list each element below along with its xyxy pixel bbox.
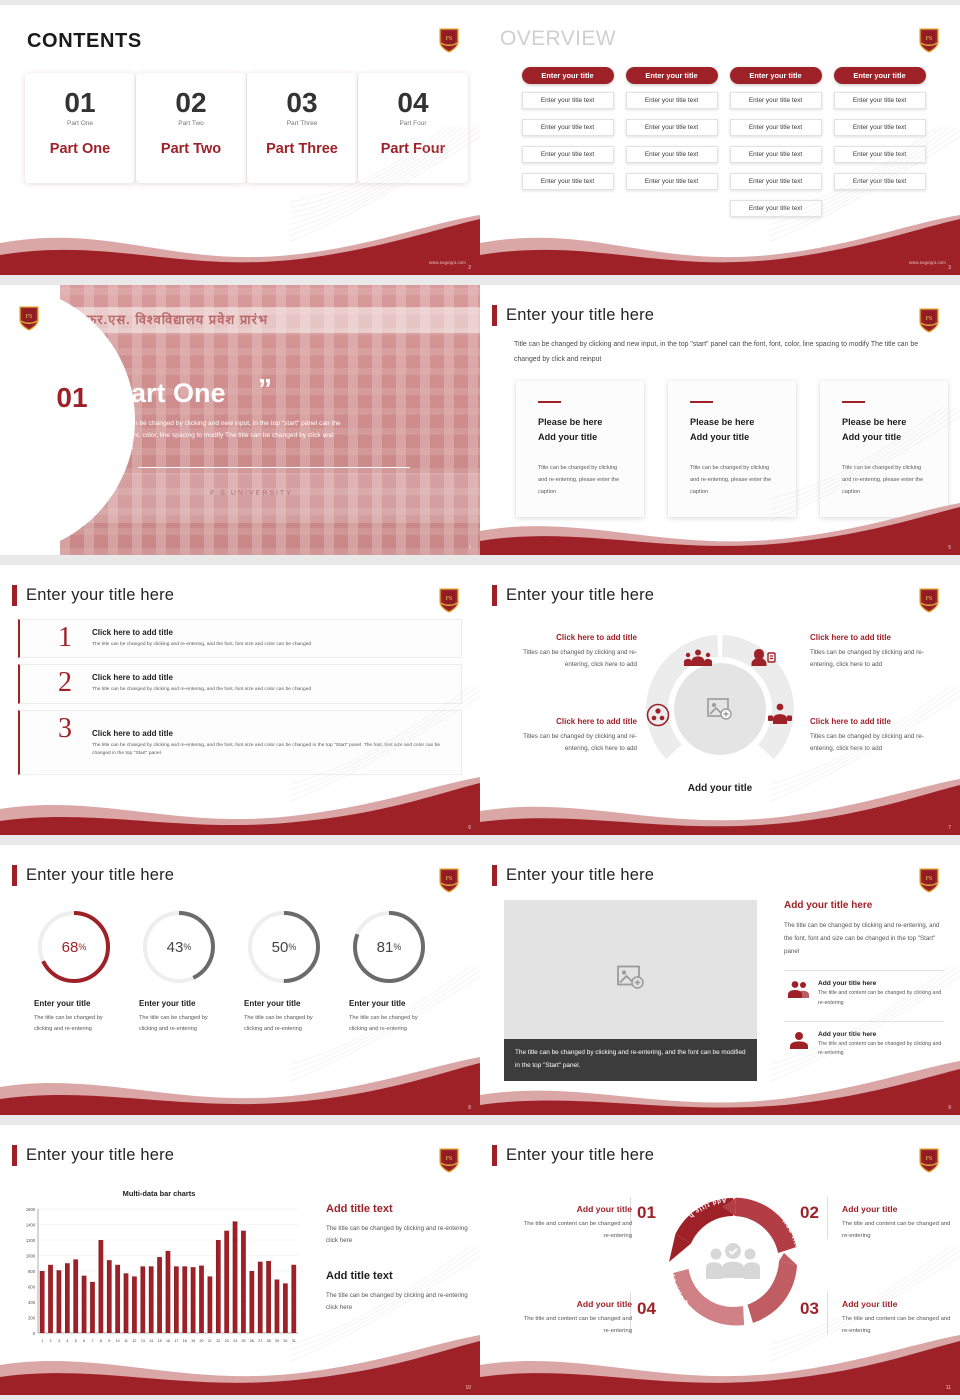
label-heading: Add your title [842, 1204, 952, 1214]
radial-label-bottom-left: Click here to add title Titles can be ch… [502, 717, 637, 756]
card-heading-line1: Please be here [538, 415, 622, 430]
overview-column: Enter your title Enter your title text E… [832, 67, 927, 227]
image-placeholder-icon[interactable] [707, 698, 733, 720]
side-heading-1: Add title text [326, 1203, 471, 1215]
overview-column: Enter your title Enter your title text E… [728, 67, 823, 227]
university-crest-icon: FS [918, 1147, 940, 1173]
page-title: Enter your title here [506, 1146, 654, 1165]
cycle-label-bottom-right: Add your title The title and content can… [842, 1299, 952, 1337]
slide-donut-stats: Enter your title here FS 68% Enter your … [0, 845, 480, 1115]
footer-wave-decoration [0, 1055, 480, 1115]
label-heading: Click here to add title [502, 633, 637, 642]
divider-rule [138, 467, 410, 468]
slide-number: 11 [946, 1385, 951, 1391]
svg-text:FS: FS [446, 596, 453, 602]
mini-heading: Add your title here [818, 980, 944, 987]
card-number: 03 [247, 89, 357, 117]
person-network-icon [768, 703, 792, 730]
slide-overview: OVERVIEW FS Enter your title Enter your … [480, 5, 960, 275]
svg-text:600: 600 [28, 1285, 36, 1290]
svg-text:24: 24 [233, 1339, 237, 1343]
row-body: The title can be changed by clicking and… [92, 686, 451, 694]
page-title: Enter your title here [506, 866, 654, 885]
page-title: Enter your title here [506, 586, 654, 605]
overview-cell[interactable]: Enter your title text [730, 92, 822, 109]
footer-wave-decoration [0, 775, 480, 835]
page-title-bar: Enter your title here [12, 1145, 174, 1166]
feature-card[interactable]: Please be here Add your title Title can … [668, 381, 796, 517]
contents-card[interactable]: 03 Part Three Part Three [247, 73, 357, 183]
label-body: The title and content can be changed and… [522, 1219, 632, 1242]
svg-text:400: 400 [28, 1300, 36, 1305]
svg-text:20: 20 [200, 1339, 204, 1343]
card-number: 04 [358, 89, 468, 117]
overview-cell[interactable]: Enter your title text [522, 173, 614, 190]
slide-bar-chart: Enter your title here FS Multi-data bar … [0, 1125, 480, 1395]
page-title: Enter your title here [506, 306, 654, 325]
slide-cycle-diagram: Enter your title here FS [480, 1125, 960, 1395]
overview-pill[interactable]: Enter your title [730, 67, 822, 84]
row-body: The title can be changed by clicking and… [92, 742, 451, 759]
svg-text:23: 23 [225, 1339, 229, 1343]
university-crest-icon: FS [438, 27, 460, 53]
group-people-icon [683, 649, 713, 672]
footer-wave-decoration [0, 215, 480, 275]
slide-number: 5 [948, 545, 951, 551]
svg-text:FS: FS [446, 36, 453, 42]
svg-text:800: 800 [28, 1269, 36, 1274]
label-heading: Click here to add title [502, 717, 637, 726]
svg-text:1600: 1600 [26, 1207, 36, 1212]
site-url: www.sogoppt.com [429, 260, 466, 265]
cycle-label-bottom-left: Add your title The title and content can… [522, 1299, 632, 1337]
label-body: Titles can be changed by clicking and re… [502, 647, 637, 672]
numbered-row-list: 1 Click here to add title The title can … [18, 619, 462, 781]
overview-cell[interactable]: Enter your title text [626, 92, 718, 109]
slide-number: 7 [948, 825, 951, 831]
row-body: The title can be changed by clicking and… [92, 641, 451, 649]
divider [827, 1292, 828, 1334]
donut-percent: 50% [244, 907, 324, 987]
side-panel: Add your title here The title can be cha… [784, 900, 944, 1059]
page-title-bar: Enter your title here [492, 585, 654, 606]
list-item[interactable]: 1 Click here to add title The title can … [18, 619, 462, 658]
university-crest-icon: FS [918, 27, 940, 53]
photo-sign-text: एफर.एस. विश्वविद्यालय प्रवेश प्रारंभ [78, 310, 462, 328]
svg-text:FS: FS [926, 876, 933, 882]
slide-number: 8 [468, 1105, 471, 1111]
donut-percent: 68% [34, 907, 114, 987]
card-label: Part Three [247, 141, 357, 157]
list-item[interactable]: 3 Click here to add title The title can … [18, 710, 462, 776]
title-accent-bar [492, 1145, 497, 1166]
svg-text:15: 15 [158, 1339, 162, 1343]
overview-cell[interactable]: Enter your title text [626, 119, 718, 136]
page-title: Enter your title here [26, 866, 174, 885]
card-label: Part Four [358, 141, 468, 157]
card-heading-line1: Please be here [690, 415, 774, 430]
donut-heading: Enter your title [349, 999, 446, 1008]
overview-cell[interactable]: Enter your title text [522, 146, 614, 163]
label-heading: Add your title [522, 1299, 632, 1309]
donut-stat[interactable]: 68% Enter your title The title can be ch… [26, 907, 131, 1034]
side-body-1: The title can be changed by clicking and… [326, 1223, 471, 1248]
contents-card[interactable]: 04 Part Four Part Four [358, 73, 468, 183]
overview-grid: Enter your title Enter your title text E… [520, 67, 927, 227]
bar-chart: Multi-data bar charts 020040060080010001… [14, 1189, 304, 1354]
slide-number: 3 [948, 265, 951, 271]
feature-card[interactable]: Please be here Add your title Title can … [820, 381, 948, 517]
svg-text:22: 22 [216, 1339, 220, 1343]
radial-diagram: Add your title Click here to add title T… [480, 617, 960, 807]
section-body: Title can be changed by clicking and new… [113, 418, 343, 455]
slide-number: 9 [948, 1105, 951, 1111]
section-number-badge: 01 [43, 373, 101, 423]
slide-radial-diagram: Enter your title here FS [480, 565, 960, 835]
chart-side-text: Add title text The title can be changed … [326, 1203, 471, 1315]
photo-ground-band [60, 473, 480, 523]
mini-feature[interactable]: Add your title here The title and conten… [784, 1022, 944, 1060]
svg-text:FS: FS [446, 876, 453, 882]
overview-cell[interactable]: Enter your title text [834, 173, 926, 190]
row-number: 1 [58, 624, 72, 652]
overview-cell[interactable]: Enter your title text [730, 173, 822, 190]
card-number: 01 [25, 89, 135, 117]
svg-text:16: 16 [166, 1339, 170, 1343]
title-accent-bar [492, 305, 497, 326]
donut-percent: 43% [139, 907, 219, 987]
side-heading-2: Add title text [326, 1270, 471, 1282]
section-title: Part One [113, 378, 226, 409]
card-heading-line2: Add your title [842, 430, 926, 445]
mini-body: The title and content can be changed by … [818, 989, 944, 1009]
label-heading: Click here to add title [810, 633, 945, 642]
title-accent-bar [12, 585, 17, 606]
svg-text:200: 200 [28, 1316, 36, 1321]
slide-section-divider: एफर.एस. विश्वविद्यालय प्रवेश प्रारंभ F S… [0, 285, 480, 555]
label-body: Titles can be changed by clicking and re… [810, 731, 945, 756]
overview-column: Enter your title Enter your title text E… [520, 67, 615, 227]
card-subtitle: Part One [25, 120, 135, 127]
card-accent-dash [538, 401, 561, 403]
label-heading: Click here to add title [810, 717, 945, 726]
label-body: Titles can be changed by clicking and re… [502, 731, 637, 756]
card-number: 02 [136, 89, 246, 117]
svg-text:5: 5 [75, 1339, 77, 1343]
row-number: 3 [58, 715, 72, 743]
university-crest-icon: FS [918, 587, 940, 613]
donut-stat[interactable]: 81% Enter your title The title can be ch… [341, 907, 446, 1034]
card-label: Part Two [136, 141, 246, 157]
svg-text:FS: FS [446, 1156, 453, 1162]
row-heading: Click here to add title [92, 628, 451, 637]
svg-text:8: 8 [100, 1339, 102, 1343]
donut-stat-list: 68% Enter your title The title can be ch… [26, 907, 446, 1034]
label-heading: Add your title [522, 1204, 632, 1214]
overview-cell[interactable]: Enter your title text [522, 119, 614, 136]
donut-body: The title can be changed by clicking and… [349, 1013, 437, 1034]
slide-contents: CONTENTS FS 01 Part One Part One 02 Part… [0, 5, 480, 275]
overview-cell[interactable]: Enter your title text [834, 92, 926, 109]
page-title: Enter your title here [26, 1146, 174, 1165]
diagram-caption: Add your title [640, 783, 800, 794]
svg-text:14: 14 [149, 1339, 153, 1343]
image-caption: The title can be changed by clicking and… [504, 1039, 757, 1081]
svg-text:0: 0 [33, 1331, 36, 1336]
page-title-bar: Enter your title here [12, 865, 174, 886]
cycle-number-01: 01 [637, 1203, 656, 1223]
list-item[interactable]: 2 Click here to add title The title can … [18, 664, 462, 703]
overview-cell[interactable]: Enter your title text [834, 146, 926, 163]
section-number: 01 [43, 373, 101, 423]
slide-number: 2 [468, 265, 471, 271]
slide-number: 4 [468, 545, 471, 551]
donut-ring: 81% [349, 907, 429, 987]
team-circle-icon [646, 703, 670, 732]
overview-pill[interactable]: Enter your title [522, 67, 614, 84]
svg-text:12: 12 [132, 1339, 136, 1343]
donut-ring: 50% [244, 907, 324, 987]
single-person-icon [788, 1031, 810, 1060]
donut-heading: Enter your title [139, 999, 236, 1008]
row-heading: Click here to add title [92, 729, 451, 738]
chart-plot-area: 0200400600800100012001400160012345678910… [14, 1203, 304, 1351]
svg-text:25: 25 [241, 1339, 245, 1343]
title-accent-bar [492, 585, 497, 606]
mini-heading: Add your title here [818, 1031, 944, 1038]
mini-body: The title and content can be changed by … [818, 1040, 944, 1060]
page-title: CONTENTS [27, 30, 142, 53]
svg-text:28: 28 [267, 1339, 271, 1343]
cycle-label-top-left: Add your title The title and content can… [522, 1204, 632, 1242]
overview-pill[interactable]: Enter your title [626, 67, 718, 84]
page-title-bar: Enter your title here [492, 865, 654, 886]
card-subtitle: Part Two [136, 120, 246, 127]
side-body-2: The title can be changed by clicking and… [326, 1290, 471, 1315]
card-body: Title can be changed by clicking and re-… [690, 463, 774, 498]
card-body: Title can be changed by clicking and re-… [842, 463, 926, 498]
svg-text:26: 26 [250, 1339, 254, 1343]
svg-text:10: 10 [116, 1339, 120, 1343]
card-accent-dash [842, 401, 865, 403]
label-body: The title and content can be changed and… [842, 1314, 952, 1337]
feature-card-list: Please be here Add your title Title can … [516, 381, 948, 517]
overview-pill[interactable]: Enter your title [834, 67, 926, 84]
svg-text:1400: 1400 [26, 1223, 36, 1228]
label-heading: Add your title [842, 1299, 952, 1309]
donut-stat[interactable]: 50% Enter your title The title can be ch… [236, 907, 341, 1034]
donut-ring: 68% [34, 907, 114, 987]
donut-body: The title can be changed by clicking and… [34, 1013, 122, 1034]
donut-ring: 43% [139, 907, 219, 987]
svg-text:9: 9 [108, 1339, 110, 1343]
donut-stat[interactable]: 43% Enter your title The title can be ch… [131, 907, 236, 1034]
label-body: The title and content can be changed and… [842, 1219, 952, 1242]
slide-deck: CONTENTS FS 01 Part One Part One 02 Part… [0, 0, 960, 1400]
side-heading: Add your title here [784, 900, 944, 911]
donut-heading: Enter your title [34, 999, 131, 1008]
photo-university-text: F S UNIVERSITY [210, 490, 293, 497]
svg-text:2: 2 [50, 1339, 52, 1343]
overview-cell[interactable]: Enter your title text [626, 173, 718, 190]
card-subtitle: Part Three [247, 120, 357, 127]
cycle-ring: Add title here Add title here Add title … [648, 1175, 818, 1350]
svg-text:FS: FS [926, 1156, 933, 1162]
page-title-bar: Enter your title here [492, 305, 654, 326]
page-title: OVERVIEW [500, 27, 616, 51]
contents-card-list: 01 Part One Part One 02 Part Two Part Tw… [25, 73, 469, 183]
radial-label-top-right: Click here to add title Titles can be ch… [810, 633, 945, 672]
overview-cell[interactable]: Enter your title text [730, 200, 822, 217]
svg-text:FS: FS [926, 316, 933, 322]
label-body: Titles can be changed by clicking and re… [810, 647, 945, 672]
svg-text:18: 18 [183, 1339, 187, 1343]
person-badge-icon [750, 647, 776, 672]
lead-paragraph: Title can be changed by clicking and new… [514, 338, 924, 367]
slide-number: 6 [468, 825, 471, 831]
cycle-number-03: 03 [800, 1299, 819, 1319]
overview-cell[interactable]: Enter your title text [834, 119, 926, 136]
divider [827, 1197, 828, 1239]
slide-three-cards: Enter your title here FS Title can be ch… [480, 285, 960, 555]
radial-label-bottom-right: Click here to add title Titles can be ch… [810, 717, 945, 756]
spacer [326, 1248, 471, 1270]
svg-text:6: 6 [83, 1339, 85, 1343]
page-title: Enter your title here [26, 586, 174, 605]
side-body: The title can be changed by clicking and… [784, 919, 944, 958]
university-crest-icon: FS [918, 867, 940, 893]
feature-card[interactable]: Please be here Add your title Title can … [516, 381, 644, 517]
overview-column: Enter your title Enter your title text E… [624, 67, 719, 227]
cycle-number-02: 02 [800, 1203, 819, 1223]
card-body: Title can be changed by clicking and re-… [538, 463, 622, 498]
svg-text:19: 19 [191, 1339, 195, 1343]
university-crest-icon: FS [918, 307, 940, 333]
card-label: Part One [25, 141, 135, 157]
svg-text:11: 11 [124, 1339, 128, 1343]
mini-feature[interactable]: Add your title here The title and conten… [784, 971, 944, 1009]
radial-label-top-left: Click here to add title Titles can be ch… [502, 633, 637, 672]
row-number: 2 [58, 669, 72, 697]
university-crest-icon: FS [438, 1147, 460, 1173]
card-heading-line2: Add your title [690, 430, 774, 445]
card-heading-line2: Add your title [538, 430, 622, 445]
page-title-bar: Enter your title here [12, 585, 174, 606]
svg-text:1200: 1200 [26, 1238, 36, 1243]
slide-numbered-list: Enter your title here FS 1 Click here to… [0, 565, 480, 835]
two-people-icon [788, 980, 810, 1009]
cycle-number-04: 04 [637, 1299, 656, 1319]
svg-text:FS: FS [926, 596, 933, 602]
overview-cell[interactable]: Enter your title text [730, 119, 822, 136]
slide-number: 10 [465, 1385, 471, 1391]
svg-text:7: 7 [92, 1339, 94, 1343]
page-title-bar: Enter your title here [492, 1145, 654, 1166]
card-accent-dash [690, 401, 713, 403]
cycle-label-top-right: Add your title The title and content can… [842, 1204, 952, 1242]
svg-text:FS: FS [26, 314, 33, 320]
title-accent-bar [12, 1145, 17, 1166]
label-body: The title and content can be changed and… [522, 1314, 632, 1337]
donut-heading: Enter your title [244, 999, 341, 1008]
donut-body: The title can be changed by clicking and… [244, 1013, 332, 1034]
title-accent-bar [492, 865, 497, 886]
row-heading: Click here to add title [92, 673, 451, 682]
image-placeholder-icon [617, 965, 645, 994]
overview-cell[interactable]: Enter your title text [626, 146, 718, 163]
svg-text:27: 27 [258, 1339, 262, 1343]
svg-text:29: 29 [275, 1339, 279, 1343]
svg-text:17: 17 [174, 1339, 178, 1343]
svg-text:31: 31 [292, 1339, 296, 1343]
card-subtitle: Part Four [358, 120, 468, 127]
slide-image-text: Enter your title here FS The title can b… [480, 845, 960, 1115]
title-accent-bar [12, 865, 17, 886]
svg-text:1: 1 [41, 1339, 43, 1343]
donut-body: The title can be changed by clicking and… [139, 1013, 227, 1034]
university-crest-icon: FS [438, 867, 460, 893]
overview-cell[interactable]: Enter your title text [730, 146, 822, 163]
contents-card[interactable]: 01 Part One Part One [25, 73, 135, 183]
svg-text:3: 3 [58, 1339, 60, 1343]
chart-title: Multi-data bar charts [14, 1189, 304, 1198]
svg-text:13: 13 [141, 1339, 145, 1343]
donut-percent: 81% [349, 907, 429, 987]
site-url: www.sogoppt.com [909, 260, 946, 265]
university-crest-icon: FS [18, 305, 40, 331]
card-heading-line1: Please be here [842, 415, 926, 430]
university-crest-icon: FS [438, 587, 460, 613]
svg-text:21: 21 [208, 1339, 212, 1343]
quote-mark-icon: ” [258, 373, 272, 405]
svg-text:FS: FS [926, 36, 933, 42]
svg-text:1000: 1000 [26, 1254, 36, 1259]
overview-cell[interactable]: Enter your title text [522, 92, 614, 109]
contents-card[interactable]: 02 Part Two Part Two [136, 73, 246, 183]
svg-text:4: 4 [66, 1339, 68, 1343]
svg-text:30: 30 [283, 1339, 287, 1343]
image-placeholder[interactable]: The title can be changed by clicking and… [504, 900, 757, 1081]
